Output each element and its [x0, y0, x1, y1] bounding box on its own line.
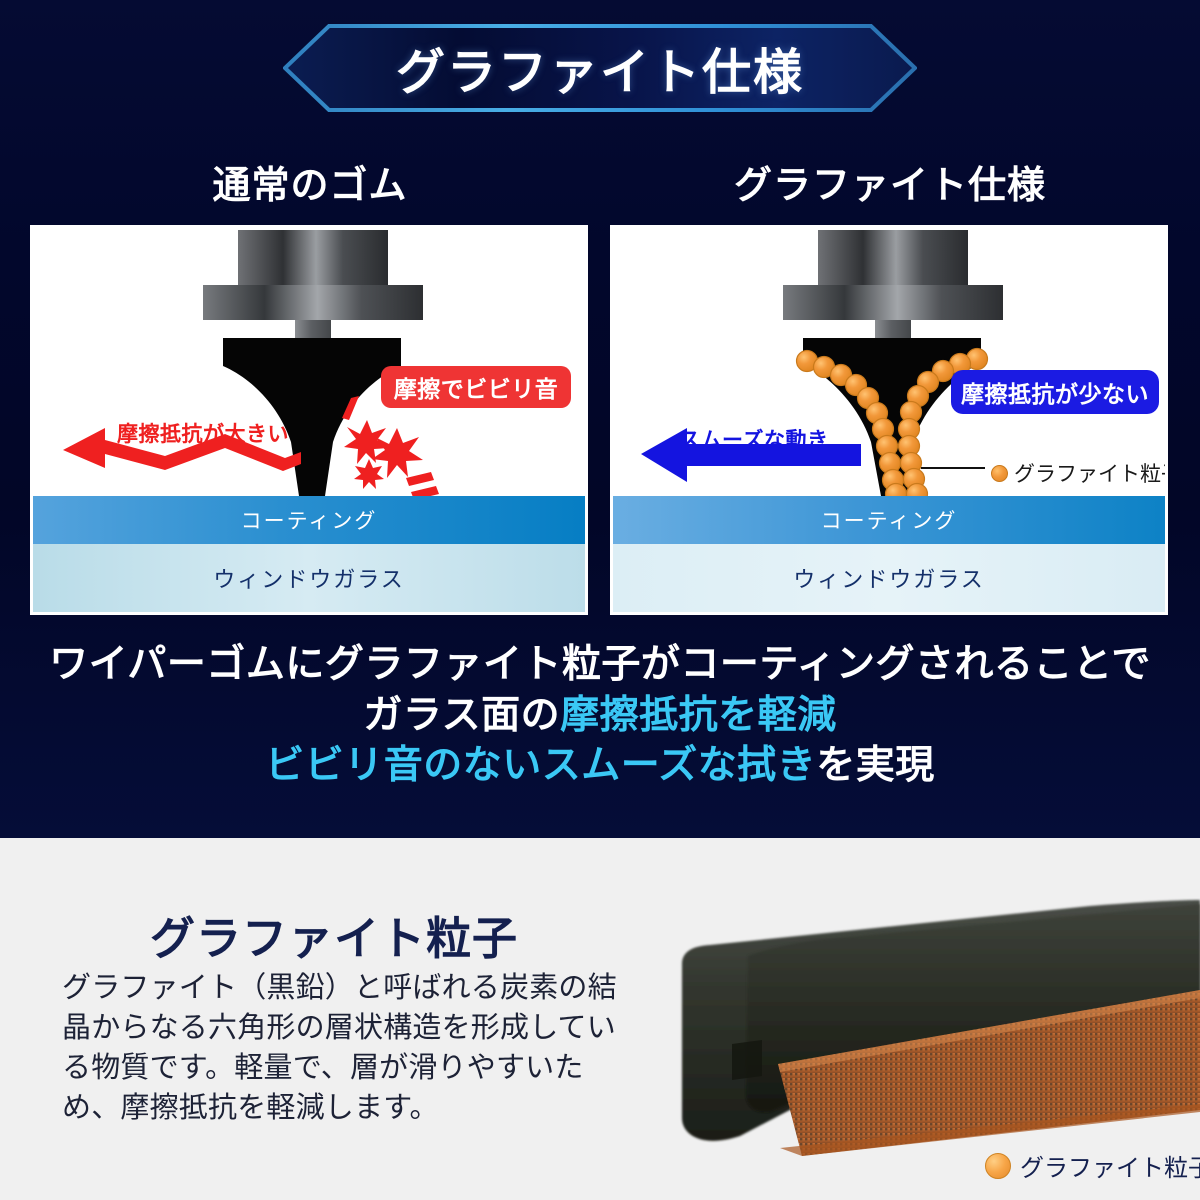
coating-band-left: コーティング: [33, 496, 585, 544]
arrow-label-high-friction: 摩擦抵抗が大きい: [117, 418, 289, 448]
bottom-section-body: グラファイト（黒鉛）と呼ばれる炭素の結晶からなる六角形の層状構造を形成している物…: [62, 968, 628, 1128]
particle-legend-label: グラファイト粒子: [1014, 458, 1168, 488]
description-line-2: ガラス面の摩擦抵抗を軽減: [0, 691, 1200, 742]
panel-normal-rubber: 摩擦抵抗が大きい 摩擦でビビリ音 コーティング ウィンドウガラス: [30, 225, 588, 615]
glass-band-right: ウィンドウガラス: [613, 544, 1165, 612]
title-banner: グラファイト仕様: [283, 24, 917, 112]
top-dark-section: グラファイト仕様 通常のゴム グラファイト仕様: [0, 0, 1200, 838]
banner-title: グラファイト仕様: [283, 24, 917, 112]
panel-graphite: スムーズな動き 摩擦抵抗が少ない グラファイト粒子 コーティング ウィンドウガラ…: [610, 225, 1168, 615]
bottom-section-title: グラファイト粒子: [150, 902, 518, 967]
description-line-3-highlight: ビビリ音のないスムーズな拭き: [265, 744, 816, 787]
panel-heading-graphite: グラファイト仕様: [610, 155, 1170, 207]
description-line-1: ワイパーゴムにグラファイト粒子がコーティングされることで: [0, 640, 1200, 691]
graphite-particle-icon: [985, 1153, 1011, 1179]
glass-band-left: ウィンドウガラス: [33, 544, 585, 612]
description-line-3-plain: を実現: [816, 744, 935, 787]
description-block: ワイパーゴムにグラファイト粒子がコーティングされることで ガラス面の摩擦抵抗を軽…: [0, 640, 1200, 792]
arrow-label-low-friction: スムーズな動き: [679, 424, 828, 454]
badge-low-friction: 摩擦抵抗が少ない: [951, 370, 1159, 414]
description-line-2-plain: ガラス面の: [363, 694, 560, 737]
coating-band-right: コーティング: [613, 496, 1165, 544]
bottom-legend-label: グラファイト粒子: [1020, 1148, 1200, 1183]
infographic-page: グラファイト仕様 通常のゴム グラファイト仕様: [0, 0, 1200, 1200]
badge-chatter-noise: 摩擦でビビリ音: [381, 366, 571, 408]
panel-heading-normal: 通常のゴム: [30, 155, 590, 207]
description-line-2-highlight: 摩擦抵抗を軽減: [560, 694, 837, 737]
particle-legend-inpanel: グラファイト粒子: [991, 458, 1168, 488]
bottom-particle-legend: グラファイト粒子: [985, 1148, 1200, 1183]
graphite-particle-icon: [991, 465, 1008, 482]
description-line-3: ビビリ音のないスムーズな拭きを実現: [0, 741, 1200, 792]
vibration-spark-marks: [342, 396, 439, 500]
